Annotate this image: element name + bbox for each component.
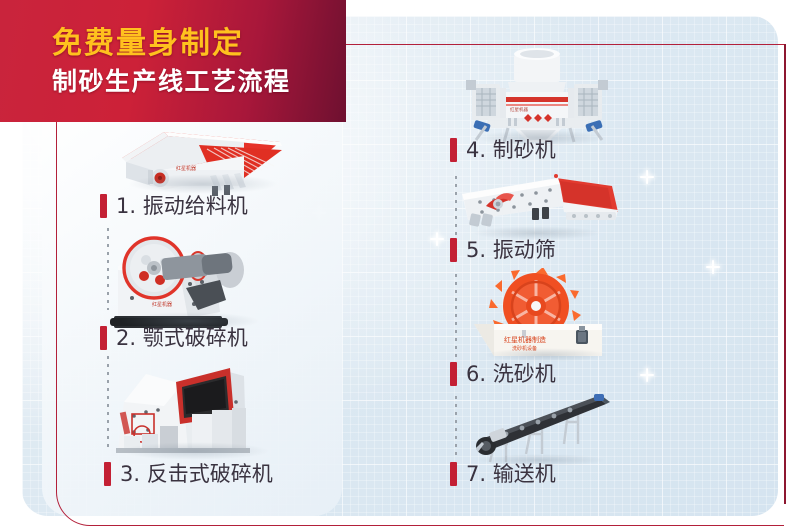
- svg-text:红星机器: 红星机器: [176, 165, 196, 172]
- step-label-3: 3. 反击式破碎机: [120, 462, 273, 486]
- sand-making-machine-icon: 红星机器: [452, 40, 632, 144]
- jaw-crusher-icon: 红星机器: [102, 226, 282, 330]
- step-marker-bar: [450, 362, 457, 386]
- banner-headline: 免费量身制定: [52, 18, 244, 62]
- step-marker-bar: [450, 238, 457, 262]
- step-label-2: 2. 颚式破碎机: [116, 326, 248, 350]
- step-item-3[interactable]: 3. 反击式破碎机: [104, 462, 273, 486]
- decorative-frame-right-edge: [784, 44, 786, 504]
- step-label-5: 5. 振动筛: [466, 238, 556, 262]
- step-marker-bar: [100, 326, 107, 350]
- belt-conveyor-icon: [462, 392, 630, 466]
- sand-washer-icon: 红星机器制造 洗砂机设备: [468, 268, 632, 360]
- svg-text:红星机器制造: 红星机器制造: [504, 335, 546, 344]
- step-item-6[interactable]: 6. 洗砂机: [450, 362, 556, 386]
- vibrating-screen-icon: [452, 168, 624, 240]
- connector-line: [455, 396, 457, 460]
- header-banner: 免费量身制定 制砂生产线工艺流程: [0, 0, 346, 122]
- step-label-6: 6. 洗砂机: [466, 362, 556, 386]
- impact-crusher-icon: [104, 358, 294, 458]
- svg-text:红星机器: 红星机器: [152, 301, 172, 308]
- step-label-7: 7. 输送机: [466, 462, 556, 486]
- step-marker-bar: [450, 138, 457, 162]
- svg-text:红星机器: 红星机器: [510, 106, 528, 113]
- step-marker-bar: [450, 462, 457, 486]
- step-item-5[interactable]: 5. 振动筛: [450, 238, 556, 262]
- step-item-1[interactable]: 1. 振动给料机: [100, 194, 248, 218]
- banner-subheadline: 制砂生产线工艺流程: [52, 62, 291, 98]
- step-marker-bar: [100, 194, 107, 218]
- step-item-4[interactable]: 4. 制砂机: [450, 138, 556, 162]
- step-marker-bar: [104, 462, 111, 486]
- step-label-1: 1. 振动给料机: [116, 194, 248, 218]
- step-label-4: 4. 制砂机: [466, 138, 556, 162]
- vibrating-feeder-icon: 红星机器: [104, 112, 304, 198]
- promo-infographic: 免费量身制定 制砂生产线工艺流程: [0, 0, 800, 530]
- step-item-7[interactable]: 7. 输送机: [450, 462, 556, 486]
- connector-line: [455, 274, 457, 358]
- step-item-2[interactable]: 2. 颚式破碎机: [100, 326, 248, 350]
